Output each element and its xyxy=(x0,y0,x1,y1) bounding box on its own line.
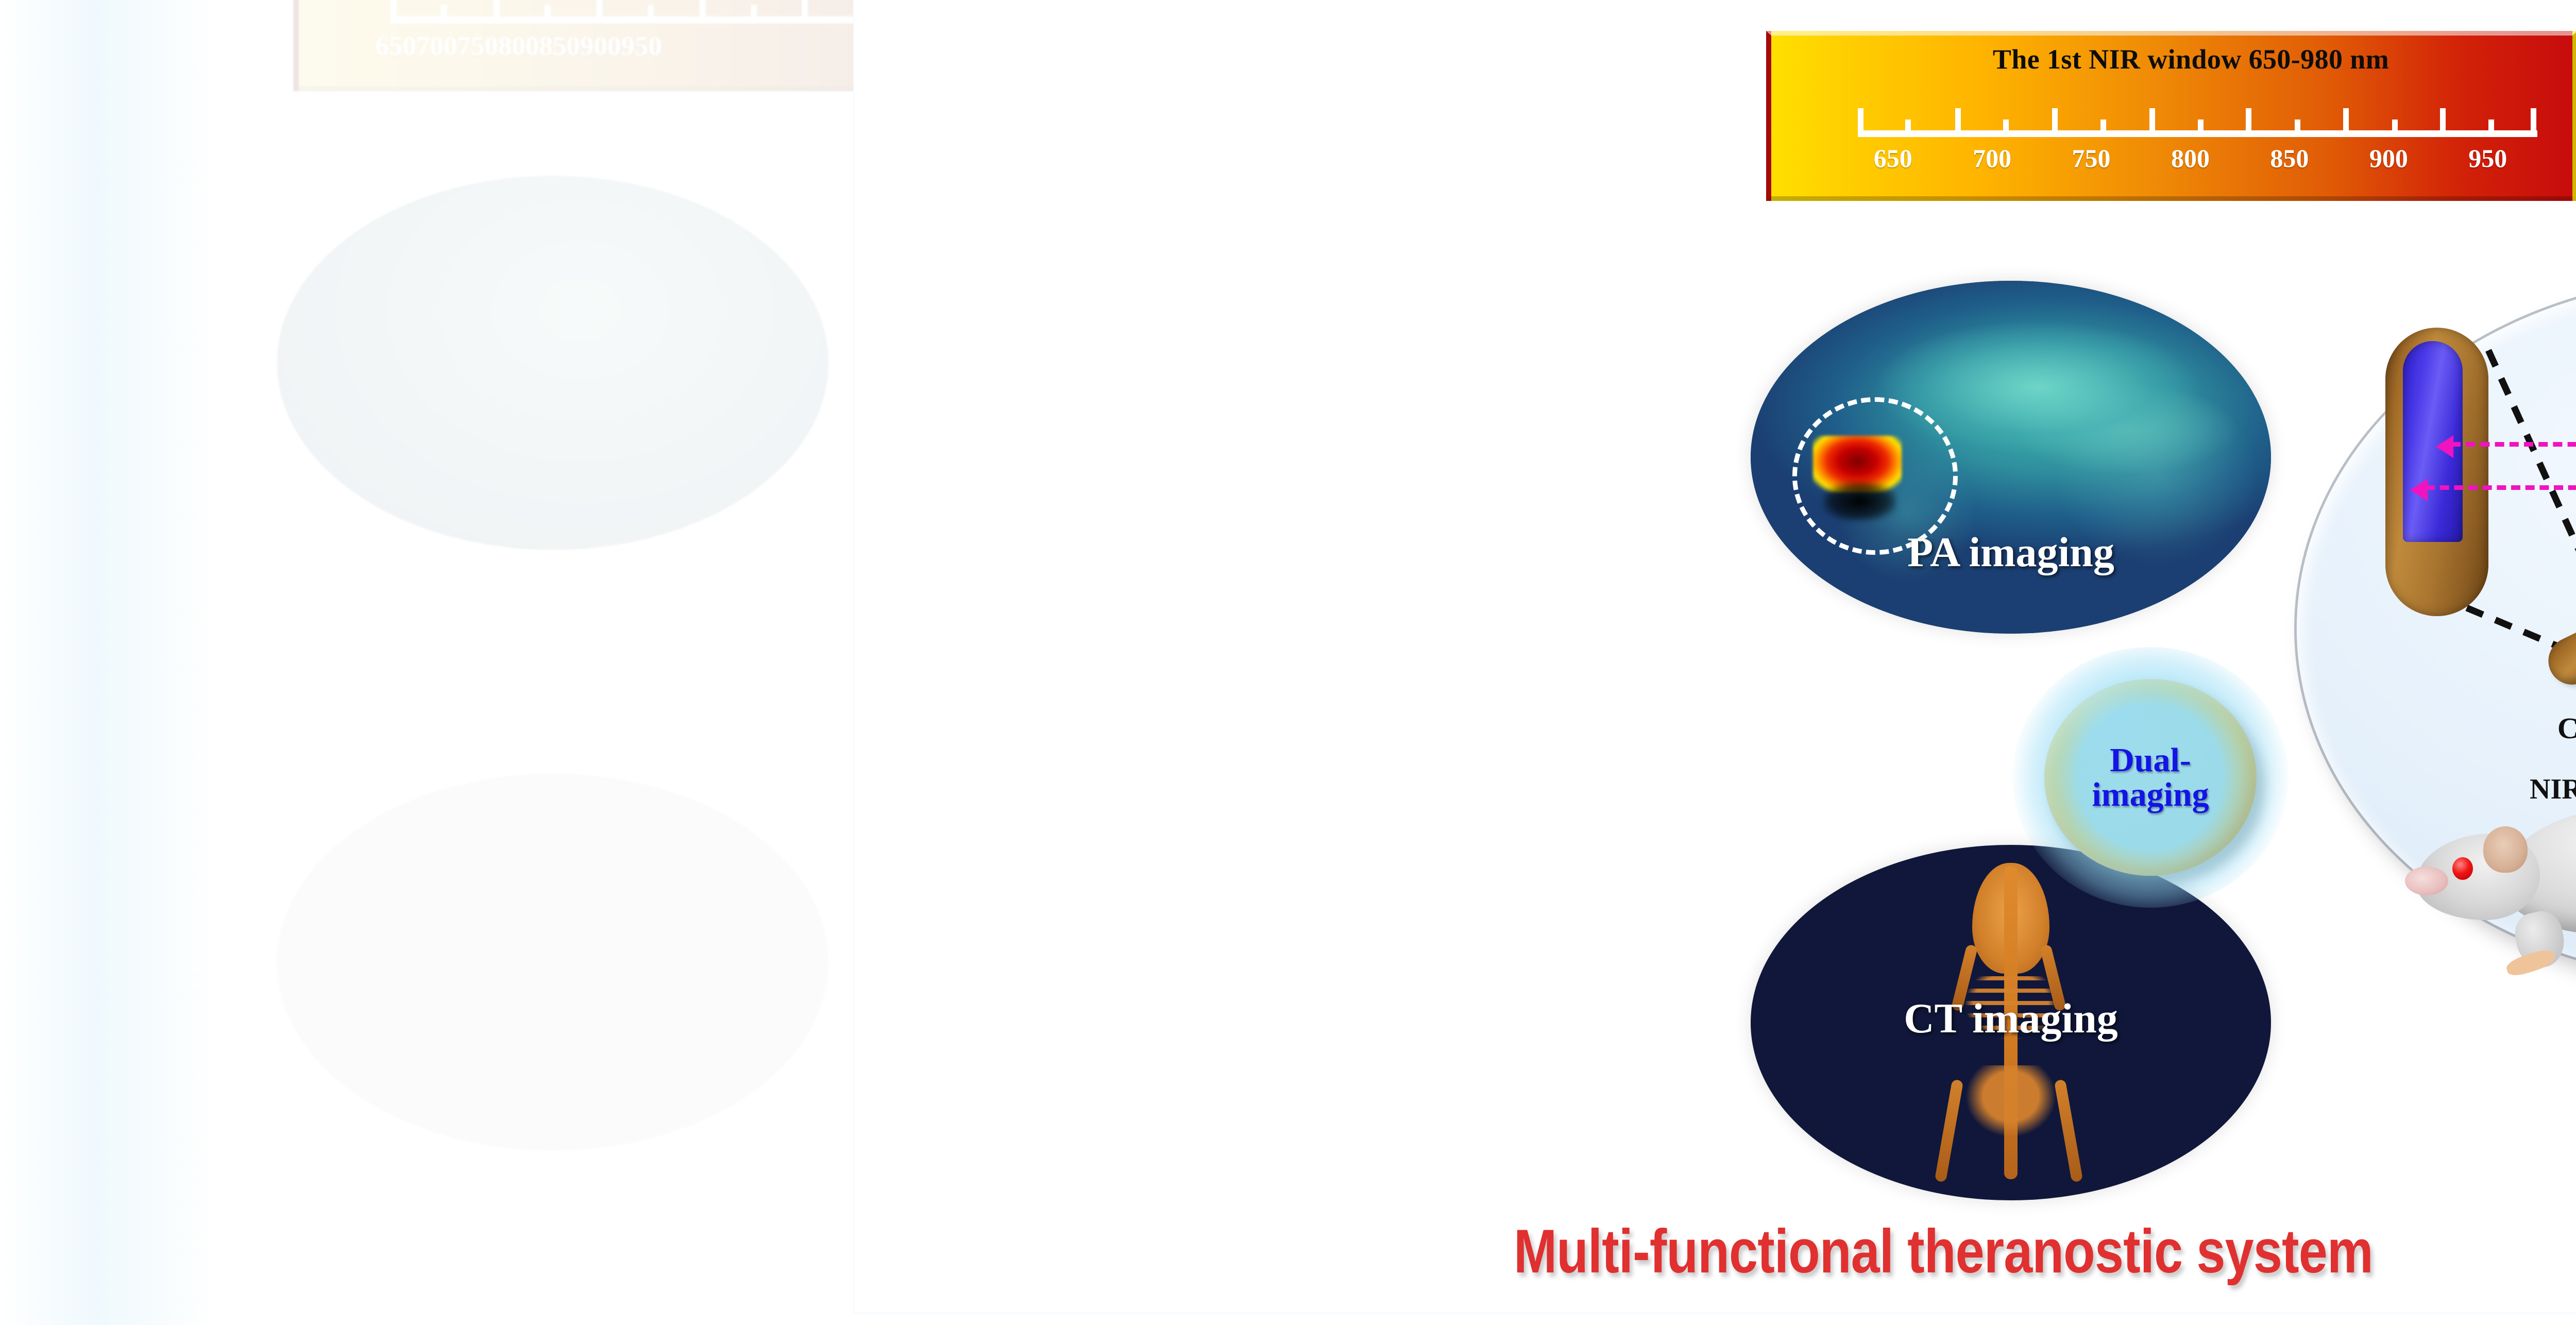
nanorod-inner-core xyxy=(2403,341,2463,542)
figure-canvas: The 1st NIR window 650-980 nm 650700 750… xyxy=(0,0,2576,1325)
nir1-tick-label: 850 xyxy=(2240,143,2339,173)
nir1-tick-label: 750 xyxy=(2042,143,2141,173)
pa-imaging-caption: PA imaging xyxy=(1751,528,2271,576)
pa-imaging-panel[interactable]: PA imaging xyxy=(1751,281,2271,634)
nir1-tick-label: 700 xyxy=(1942,143,2041,173)
cswo3-layer-arrow-icon xyxy=(2426,485,2576,490)
mouse-ear xyxy=(2483,826,2528,873)
tumor-bearing-mouse-illustration xyxy=(2405,800,2576,970)
label-tumor-bearing-mice: Tumor-bearing mice xyxy=(2297,889,2576,922)
nir-window-1-ruler xyxy=(1858,97,2537,137)
core-shell-nanorod-diagram xyxy=(2385,328,2488,616)
nir-window-1-tick-labels: 650 700 750 800 850 900 950 xyxy=(1843,143,2537,173)
badge-dual-imaging-label: Dual-imaging xyxy=(2087,743,2214,812)
badge-dual-imaging[interactable]: Dual-imaging xyxy=(2044,679,2257,876)
background-wash-left xyxy=(0,0,216,1325)
figure-headline: Multi-functional theranostic system xyxy=(1028,1216,2576,1287)
nir1-tick-label: 950 xyxy=(2438,143,2537,173)
mouse-eye xyxy=(2452,857,2473,880)
pah-layer-arrow-icon xyxy=(2451,442,2576,447)
label-nanoparticle-assembly: CsxWO3@PAH/PSS/PAH xyxy=(2297,711,2576,751)
nir1-tick-label: 650 xyxy=(1843,143,1942,173)
nir1-tick-label: 800 xyxy=(2141,143,2240,173)
ct-skeleton-pelvis xyxy=(1959,1065,2062,1143)
ct-imaging-caption: CT imaging xyxy=(1751,994,2271,1043)
main-figure-plate: The 1st NIR window 650-980 nm 650 700 75… xyxy=(854,0,2576,1313)
nir-window-1-bar: The 1st NIR window 650-980 nm 650 700 75… xyxy=(1766,31,2576,201)
central-mechanism-ellipse: PAH/PSS/PAH layer CsxWO3 layer CsxWO3@PA… xyxy=(2297,278,2576,979)
nanorod-particle xyxy=(2540,591,2576,693)
nir1-tick-label: 900 xyxy=(2339,143,2438,173)
nir-window-1-title: The 1st NIR window 650-980 nm xyxy=(1766,43,2576,75)
